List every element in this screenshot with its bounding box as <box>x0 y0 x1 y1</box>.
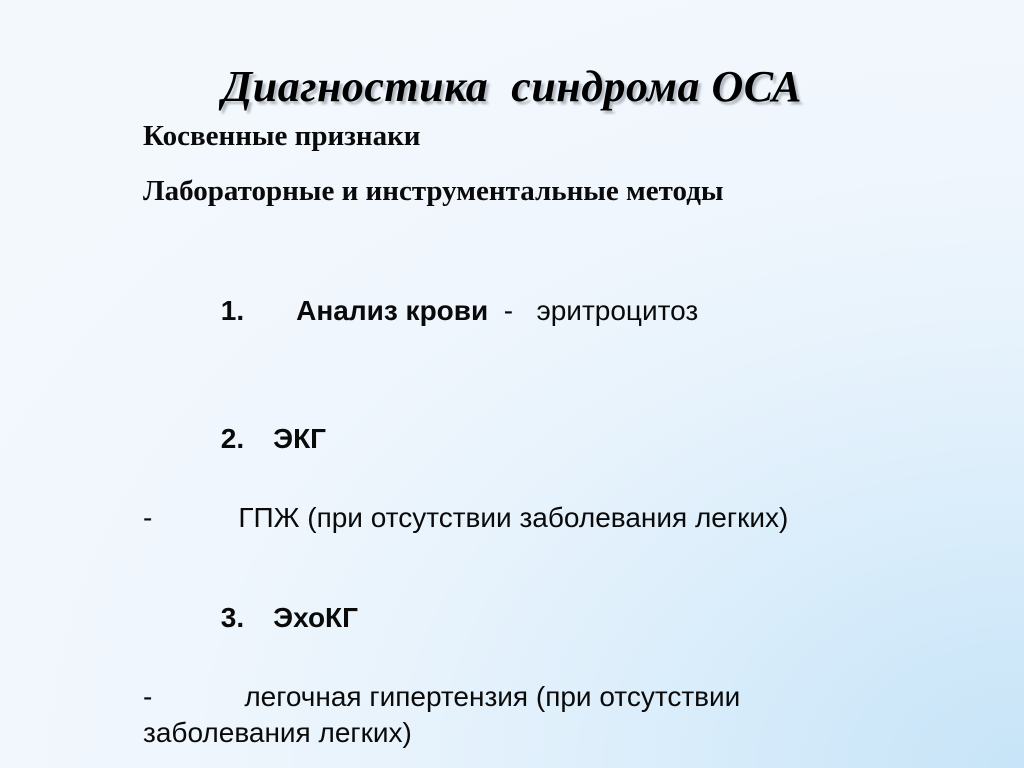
list-item: 2.ЭКГ -ГПЖ (при отсутствии заболевания л… <box>143 392 1003 536</box>
list-item-sub-text: легочная гипертензия (при отсутствии <box>244 681 740 712</box>
list-item-title: Анализ крови <box>296 295 488 326</box>
lead-line-2: Лабораторные и инструментальные методы <box>143 177 1003 206</box>
numbered-list: 1.Анализ крови - эритроцитоз 2.ЭКГ -ГПЖ … <box>143 264 1003 751</box>
page-title: Диагностика синдрома ОСА <box>222 63 802 111</box>
slide-canvas: Диагностика синдрома ОСА Косвенные призн… <box>0 0 1024 768</box>
list-item-sub: -легочная гипертензия (при отсутствии за… <box>143 679 1003 752</box>
list-item-title: ЭКГ <box>273 423 326 454</box>
list-item-number: 3. <box>221 602 244 633</box>
lead-line-1: Косвенные признаки <box>143 122 1003 151</box>
list-item-sub: -ГПЖ (при отсутствии заболевания легких) <box>143 500 1003 536</box>
list-item-sub-text: ГПЖ (при отсутствии заболевания легких) <box>238 502 788 533</box>
list-item-sub-wrap: заболевания легких) <box>143 715 1003 751</box>
bullet-dash: - <box>143 500 152 536</box>
list-item: 3.ЭхоКГ -легочная гипертензия (при отсут… <box>143 571 1003 752</box>
bullet-dash: - <box>143 679 152 715</box>
list-item-number: 1. <box>221 295 244 326</box>
list-item-heading: 1.Анализ крови - эритроцитоз <box>143 264 1003 358</box>
slide-body: Косвенные признаки Лабораторные и инстру… <box>143 122 1003 751</box>
list-item-tail: - эритроцитоз <box>488 295 698 326</box>
list-item-number: 2. <box>221 423 244 454</box>
list-item-heading: 3.ЭхоКГ <box>143 571 1003 665</box>
list-item-heading: 2.ЭКГ <box>143 392 1003 486</box>
list-item: 1.Анализ крови - эритроцитоз <box>143 264 1003 358</box>
list-item-title: ЭхоКГ <box>273 602 358 633</box>
